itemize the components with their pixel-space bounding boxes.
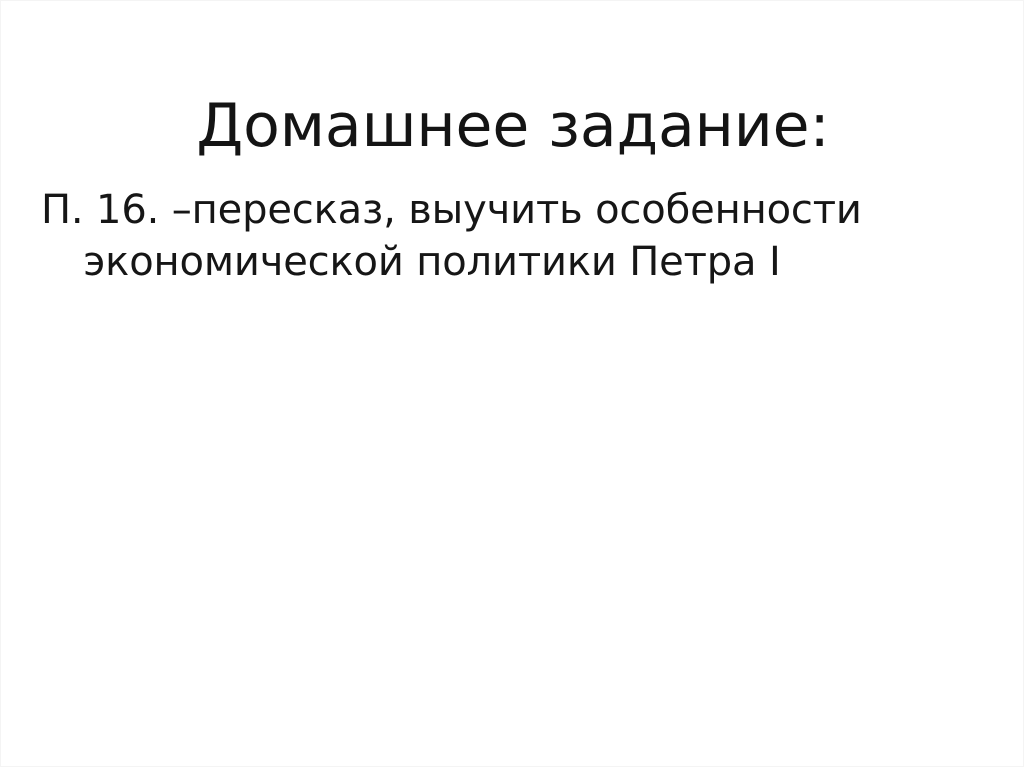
body-line-1: П. 16. –пересказ, выучить особенности [41,184,823,236]
body-line-2: экономической политики Петра I [41,236,823,288]
slide-canvas: Домашнее задание: П. 16. –пересказ, выуч… [0,0,1024,767]
slide-body-text: П. 16. –пересказ, выучить особенности эк… [41,184,823,288]
page-title: Домашнее задание: [1,93,1024,160]
slide-empty-content-area [1,311,1024,766]
